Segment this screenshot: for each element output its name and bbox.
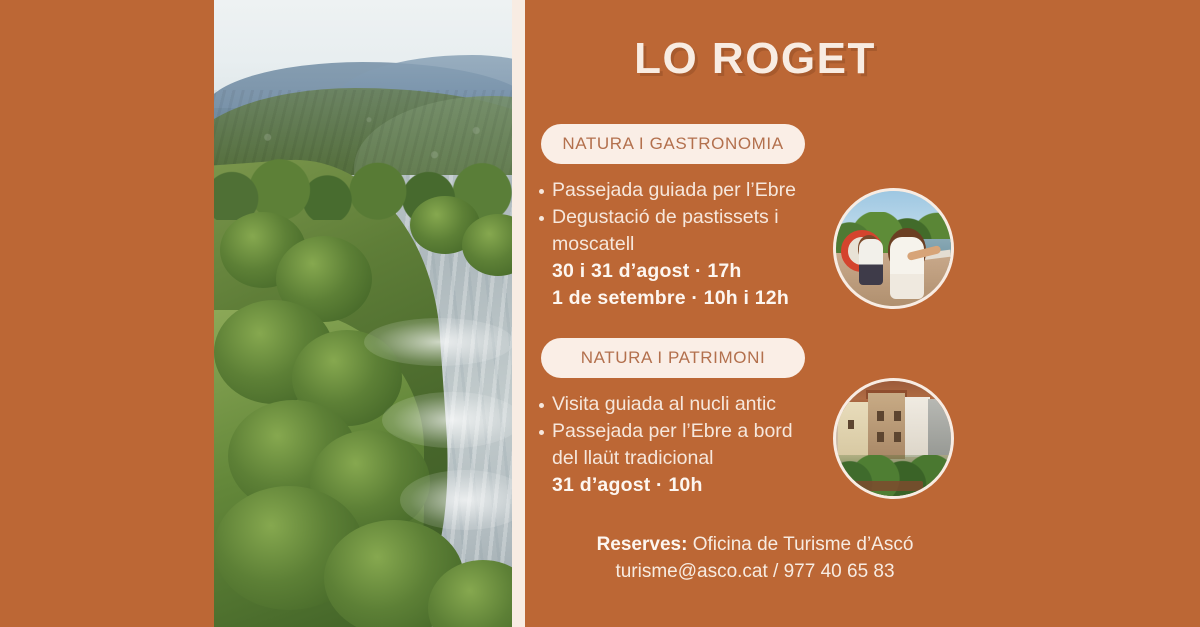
dateline: 30 i 31 d’agost · 17h [552,258,824,285]
dateline: 1 de setembre · 10h i 12h [552,285,824,312]
town-photo-window [848,420,854,429]
section-badge-label: NATURA I GASTRONOMIA [562,134,783,154]
section-list-patrimoni: Visita guiada al nucli antic Passejada p… [534,391,824,499]
landscape-photo [214,0,512,627]
town-photo-window [894,411,901,421]
town-photo-window [877,432,884,442]
list-item: Passejada per l’Ebre a bord del llaüt tr… [552,418,824,472]
section-badge-patrimoni: NATURA I PATRIMONI [541,338,805,378]
page-title: LO ROGET [525,34,985,84]
town-photo-building [868,393,905,460]
photo-water-foam [382,392,512,448]
circular-photo-boat [833,188,954,309]
circular-photo-old-town [833,378,954,499]
reserves-value: Oficina de Turisme d’Ascó [693,534,914,555]
list-item: Visita guiada al nucli antic [552,391,824,418]
boat-photo-person [859,239,883,285]
section-list-gastronomia: Passejada guiada per l’Ebre Degustació d… [534,177,824,312]
reserves-line: Reserves: Oficina de Turisme d’Ascó [525,531,985,559]
section-badge-gastronomia: NATURA I GASTRONOMIA [541,124,805,164]
reserves-label: Reserves: [597,534,688,555]
contact-line: turisme@asco.cat / 977 40 65 83 [525,558,985,586]
town-photo-planter [852,481,923,491]
photo-edge-strip [512,0,525,627]
list-item: Degustació de pastissets i moscatell [552,204,824,258]
town-photo-building [905,397,930,457]
list-item: Passejada guiada per l’Ebre [552,177,824,204]
town-photo-building [928,399,951,454]
photo-water-foam [364,318,512,366]
boat-photo-person [890,237,924,299]
poster-canvas: LO ROGET NATURA I GASTRONOMIA Passejada … [0,0,1200,627]
town-photo-window [894,432,901,442]
dateline: 31 d’agost · 10h [552,472,824,499]
town-photo-building [838,402,870,462]
section-badge-label: NATURA I PATRIMONI [581,348,766,368]
town-photo-window [877,411,884,421]
